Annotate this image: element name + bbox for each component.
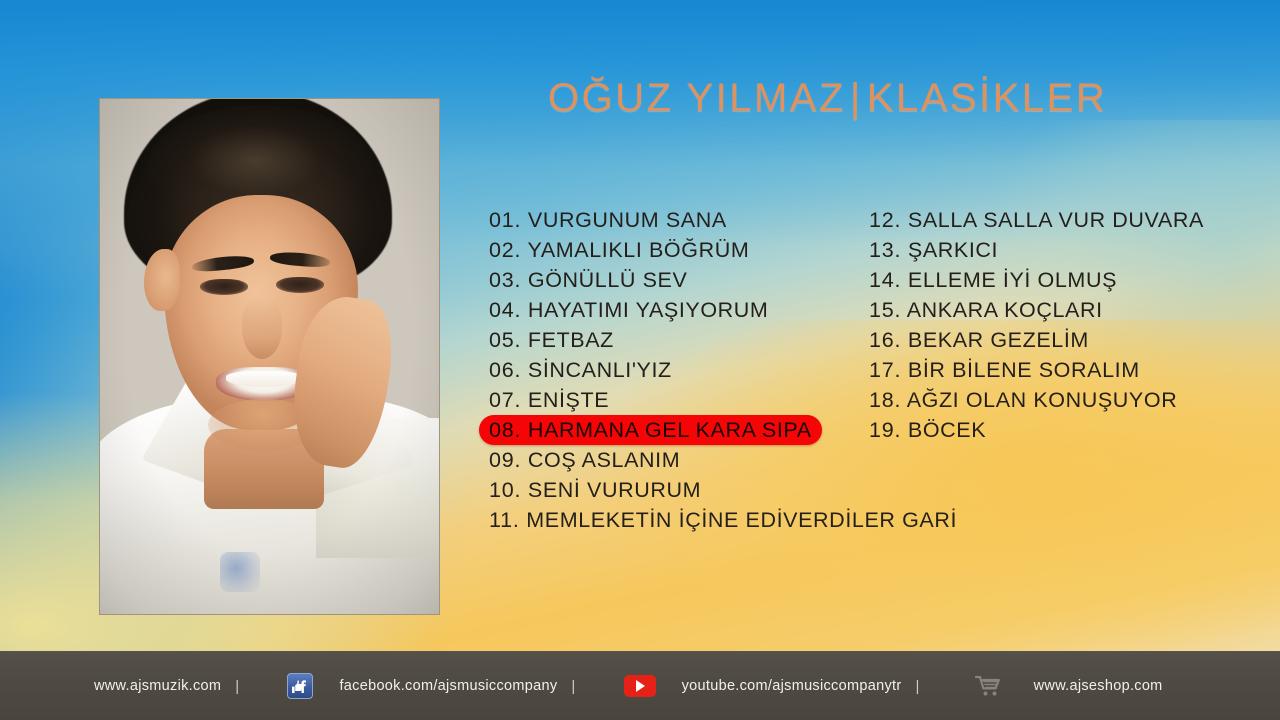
- track-number: 11.: [489, 508, 520, 532]
- track-title: SALLA SALLA VUR DUVARA: [908, 208, 1204, 232]
- footer-separator: |: [221, 678, 253, 695]
- track-number: 08.: [489, 418, 521, 442]
- track-title: SİNCANLI'YIZ: [528, 358, 672, 382]
- track-number: 02.: [489, 238, 521, 262]
- track-title: FETBAZ: [528, 328, 614, 352]
- artist-photo: [99, 98, 440, 615]
- track-title: AĞZI OLAN KONUŞUYOR: [907, 388, 1178, 412]
- track-title: ELLEME İYİ OLMUŞ: [908, 268, 1117, 292]
- track-number: 03.: [489, 268, 521, 292]
- track-row[interactable]: 12. SALLA SALLA VUR DUVARA: [869, 205, 1204, 235]
- track-number: 01.: [489, 208, 521, 232]
- track-row[interactable]: 16. BEKAR GEZELİM: [869, 325, 1204, 355]
- track-number: 06.: [489, 358, 521, 382]
- footer-separator: |: [557, 678, 589, 695]
- track-title: SENİ VURURUM: [528, 478, 701, 502]
- album-collection-name: KLASİKLER: [867, 76, 1107, 120]
- track-title: VURGUNUM SANA: [528, 208, 727, 232]
- track-number: 05.: [489, 328, 521, 352]
- track-number: 10.: [489, 478, 521, 502]
- footer-links: www.ajsmuzik.com | facebook.com/ajsmusic…: [0, 673, 1280, 699]
- album-artist-name: OĞUZ YILMAZ: [548, 76, 846, 120]
- footer-bar: www.ajsmuzik.com | facebook.com/ajsmusic…: [0, 651, 1280, 720]
- track-title: BİR BİLENE SORALIM: [908, 358, 1140, 382]
- footer-eshop-link[interactable]: www.ajseshop.com: [1034, 678, 1163, 694]
- track-number: 14.: [869, 268, 901, 292]
- tracklist-right-column: 12. SALLA SALLA VUR DUVARA 13. ŞARKICI 1…: [869, 205, 1204, 445]
- footer-youtube-link[interactable]: youtube.com/ajsmusiccompanytr: [682, 678, 902, 694]
- footer-facebook-link[interactable]: facebook.com/ajsmusiccompany: [339, 678, 557, 694]
- track-number: 18.: [869, 388, 901, 412]
- track-row[interactable]: 09. COŞ ASLANIM: [489, 445, 957, 475]
- track-row[interactable]: 13. ŞARKICI: [869, 235, 1204, 265]
- track-row[interactable]: 17. BİR BİLENE SORALIM: [869, 355, 1204, 385]
- play-triangle-icon: [636, 680, 645, 692]
- track-number: 15.: [869, 298, 901, 322]
- album-title-separator: |: [846, 76, 867, 120]
- track-title: ANKARA KOÇLARI: [907, 298, 1103, 322]
- track-row[interactable]: 11. MEMLEKETİN İÇİNE EDİVERDİLER GARİ: [489, 505, 957, 535]
- artist-photo-canvas: [100, 99, 439, 614]
- track-number: 19.: [869, 418, 901, 442]
- track-row[interactable]: 18. AĞZI OLAN KONUŞUYOR: [869, 385, 1204, 415]
- track-title: HAYATIMI YAŞIYORUM: [528, 298, 769, 322]
- track-number: 09.: [489, 448, 521, 472]
- footer-website-link[interactable]: www.ajsmuzik.com: [94, 678, 221, 694]
- track-number: 17.: [869, 358, 901, 382]
- track-number: 04.: [489, 298, 521, 322]
- track-row-active[interactable]: 08. HARMANA GEL KARA SIPA: [479, 415, 822, 445]
- track-row[interactable]: 10. SENİ VURURUM: [489, 475, 957, 505]
- track-row[interactable]: 14. ELLEME İYİ OLMUŞ: [869, 265, 1204, 295]
- track-number: 12.: [869, 208, 901, 232]
- track-number: 07.: [489, 388, 521, 412]
- track-title: BÖCEK: [908, 418, 986, 442]
- track-title: YAMALIKLI BÖĞRÜM: [527, 238, 749, 262]
- track-title: MEMLEKETİN İÇİNE EDİVERDİLER GARİ: [526, 508, 957, 532]
- video-frame: OĞUZ YILMAZ|KLASİKLER 01. VURGUNUM SANA …: [0, 0, 1280, 720]
- photo-vignette: [100, 99, 439, 614]
- track-number: 16.: [869, 328, 901, 352]
- track-title: ENİŞTE: [528, 388, 609, 412]
- track-row[interactable]: 15. ANKARA KOÇLARI: [869, 295, 1204, 325]
- track-title: COŞ ASLANIM: [528, 448, 680, 472]
- youtube-icon[interactable]: [624, 675, 656, 697]
- track-row[interactable]: 19. BÖCEK: [869, 415, 1204, 445]
- track-title: BEKAR GEZELİM: [908, 328, 1089, 352]
- album-title: OĞUZ YILMAZ|KLASİKLER: [548, 78, 1107, 118]
- track-number: 13.: [869, 238, 901, 262]
- facebook-icon[interactable]: [287, 673, 313, 699]
- track-title: GÖNÜLLÜ SEV: [528, 268, 688, 292]
- shopping-cart-icon[interactable]: [974, 674, 1004, 698]
- track-title: ŞARKICI: [908, 238, 998, 262]
- footer-separator: |: [901, 678, 933, 695]
- track-title: HARMANA GEL KARA SIPA: [528, 418, 812, 442]
